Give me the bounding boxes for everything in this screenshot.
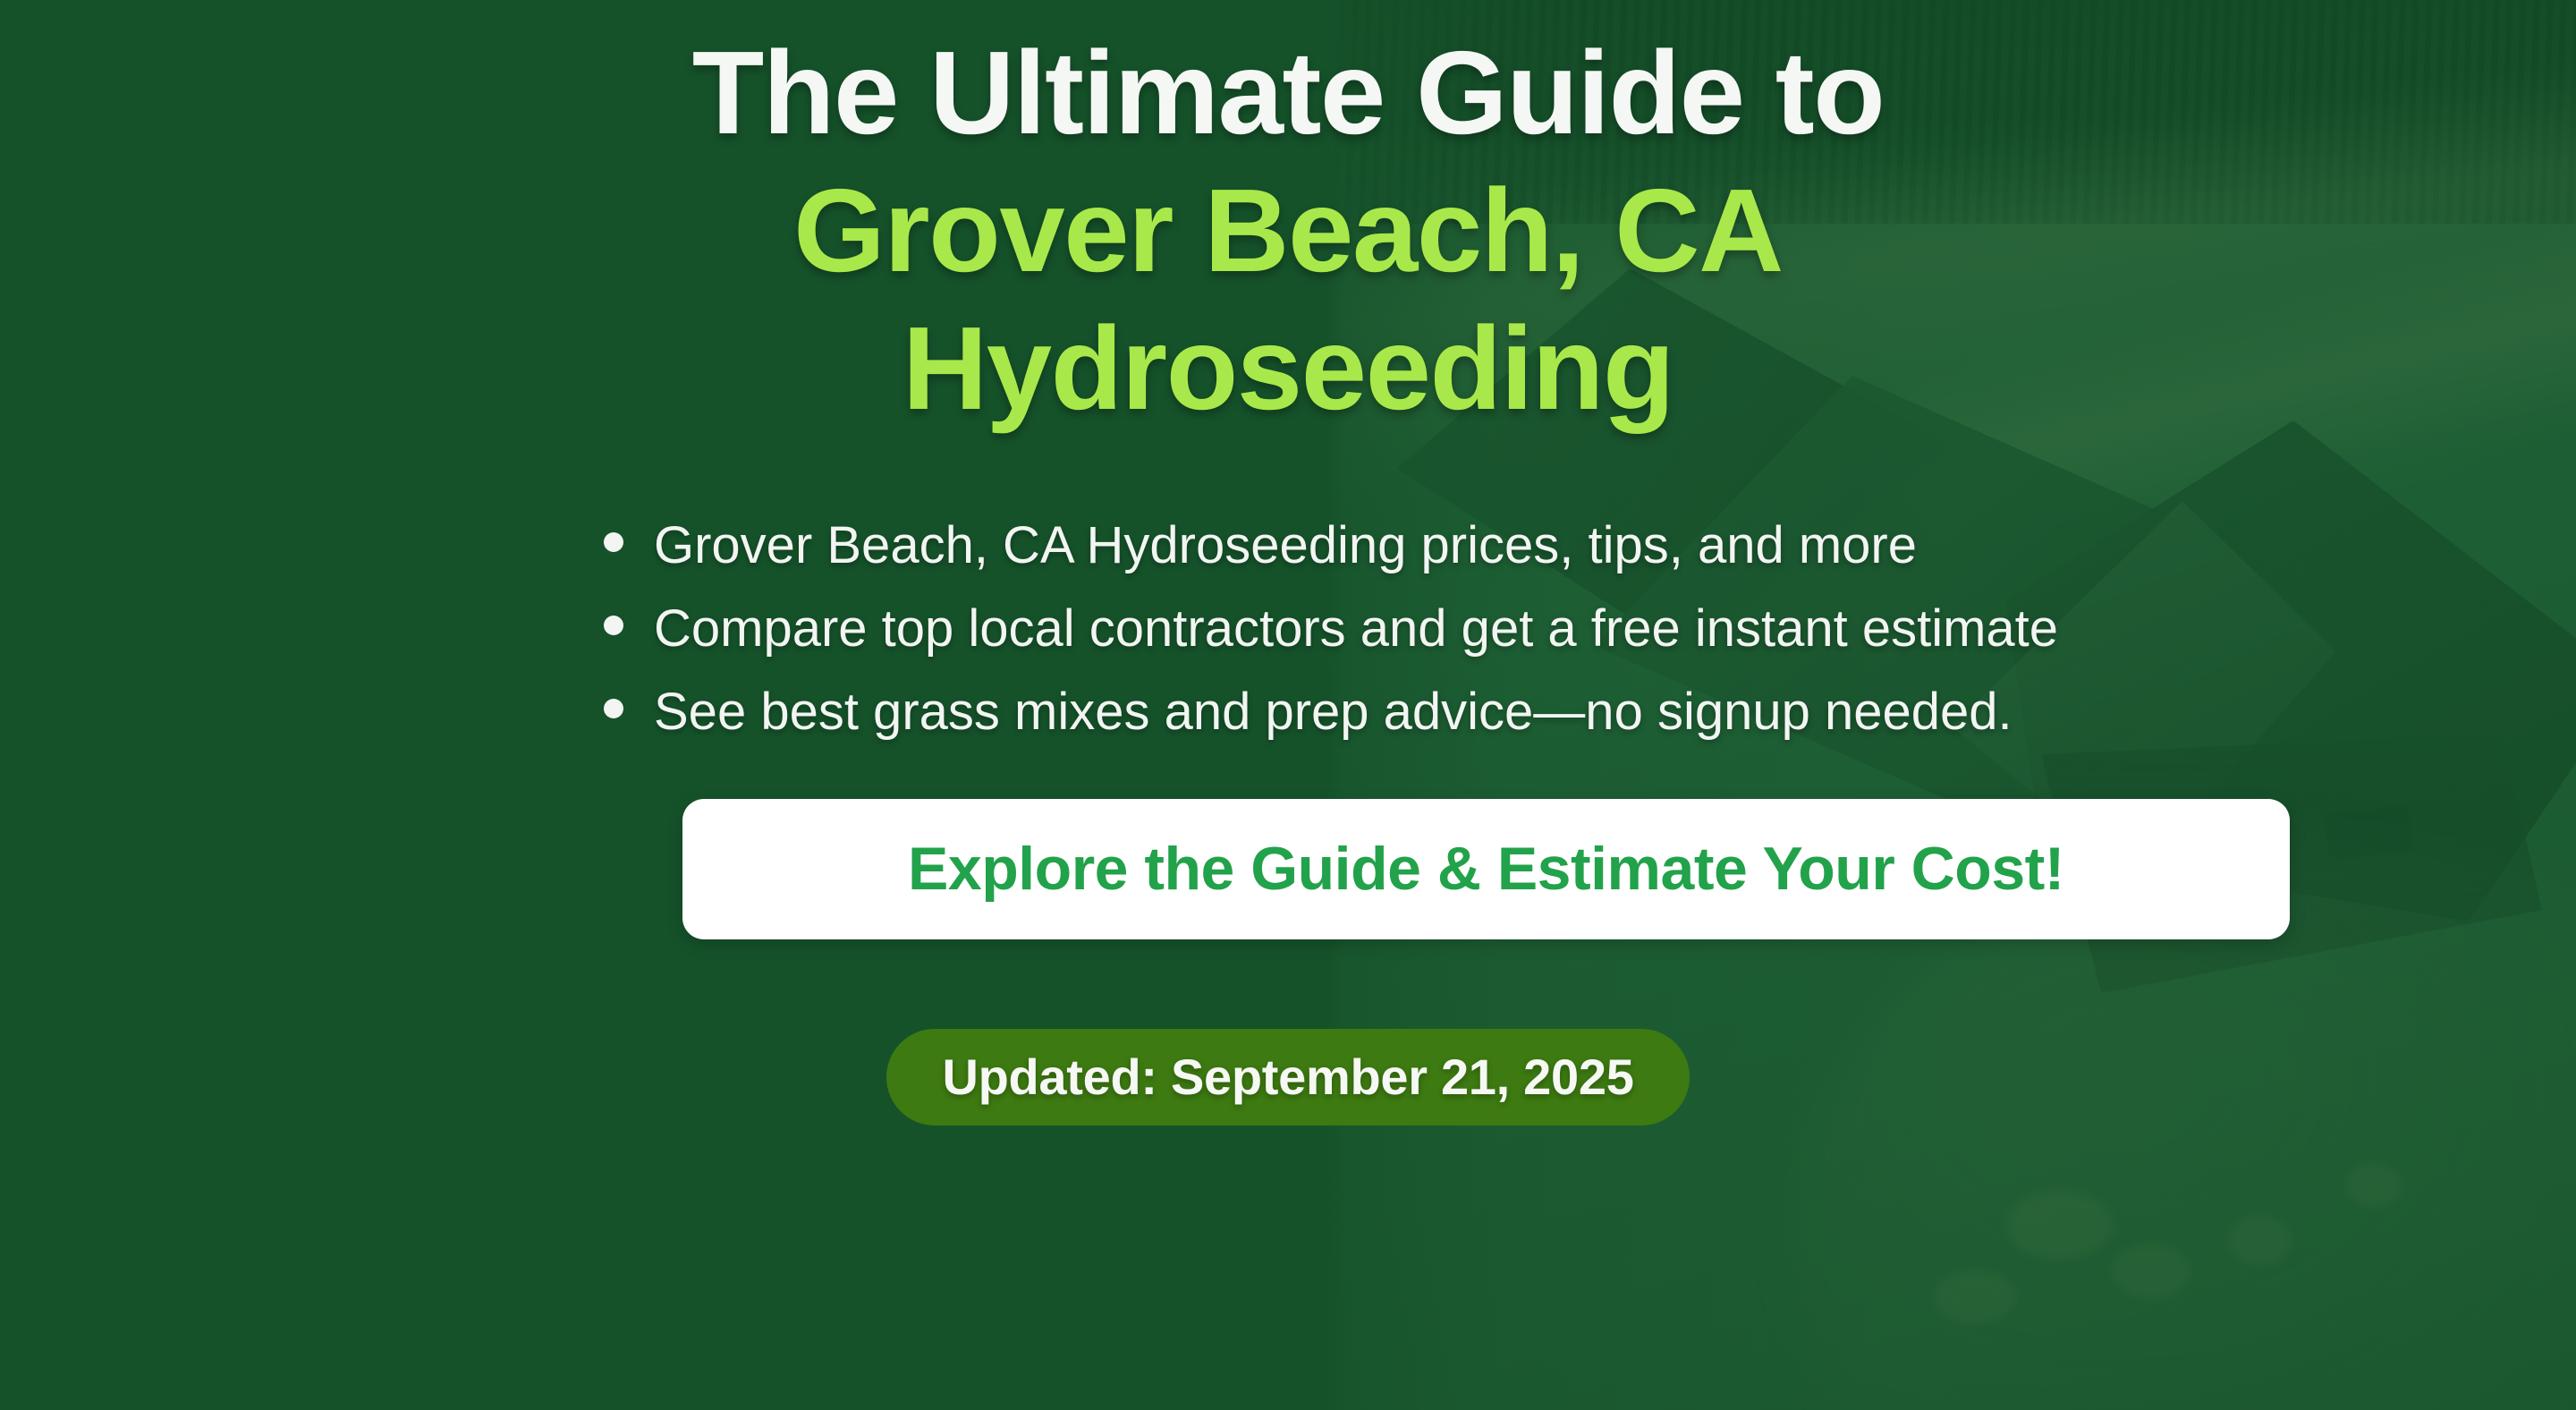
cta-container: Explore the Guide & Estimate Your Cost! bbox=[286, 799, 2290, 939]
updated-date-badge: Updated: September 21, 2025 bbox=[886, 1029, 1689, 1125]
explore-guide-button[interactable]: Explore the Guide & Estimate Your Cost! bbox=[682, 799, 2290, 939]
banner-content: The Ultimate Guide to Grover Beach, CA H… bbox=[0, 0, 2576, 1410]
bullet-dot-icon bbox=[604, 532, 623, 552]
headline-line-3: Hydroseeding bbox=[286, 310, 2290, 428]
page-title: The Ultimate Guide to Grover Beach, CA H… bbox=[286, 0, 2290, 428]
headline-line-1: The Ultimate Guide to bbox=[286, 34, 2290, 152]
bullet-dot-icon bbox=[604, 616, 623, 635]
list-item: See best grass mixes and prep advice—no … bbox=[286, 684, 2290, 742]
list-item-label: Grover Beach, CA Hydroseeding prices, ti… bbox=[654, 517, 1917, 575]
benefits-list: Grover Beach, CA Hydroseeding prices, ti… bbox=[286, 517, 2290, 767]
list-item: Compare top local contractors and get a … bbox=[286, 600, 2290, 658]
list-item-label: See best grass mixes and prep advice—no … bbox=[654, 684, 2012, 742]
hero-banner: The Ultimate Guide to Grover Beach, CA H… bbox=[0, 0, 2576, 1410]
bullet-dot-icon bbox=[604, 699, 623, 718]
badge-container: Updated: September 21, 2025 bbox=[0, 1029, 2576, 1125]
list-item: Grover Beach, CA Hydroseeding prices, ti… bbox=[286, 517, 2290, 575]
headline-line-2: Grover Beach, CA bbox=[286, 172, 2290, 290]
list-item-label: Compare top local contractors and get a … bbox=[654, 600, 2058, 658]
